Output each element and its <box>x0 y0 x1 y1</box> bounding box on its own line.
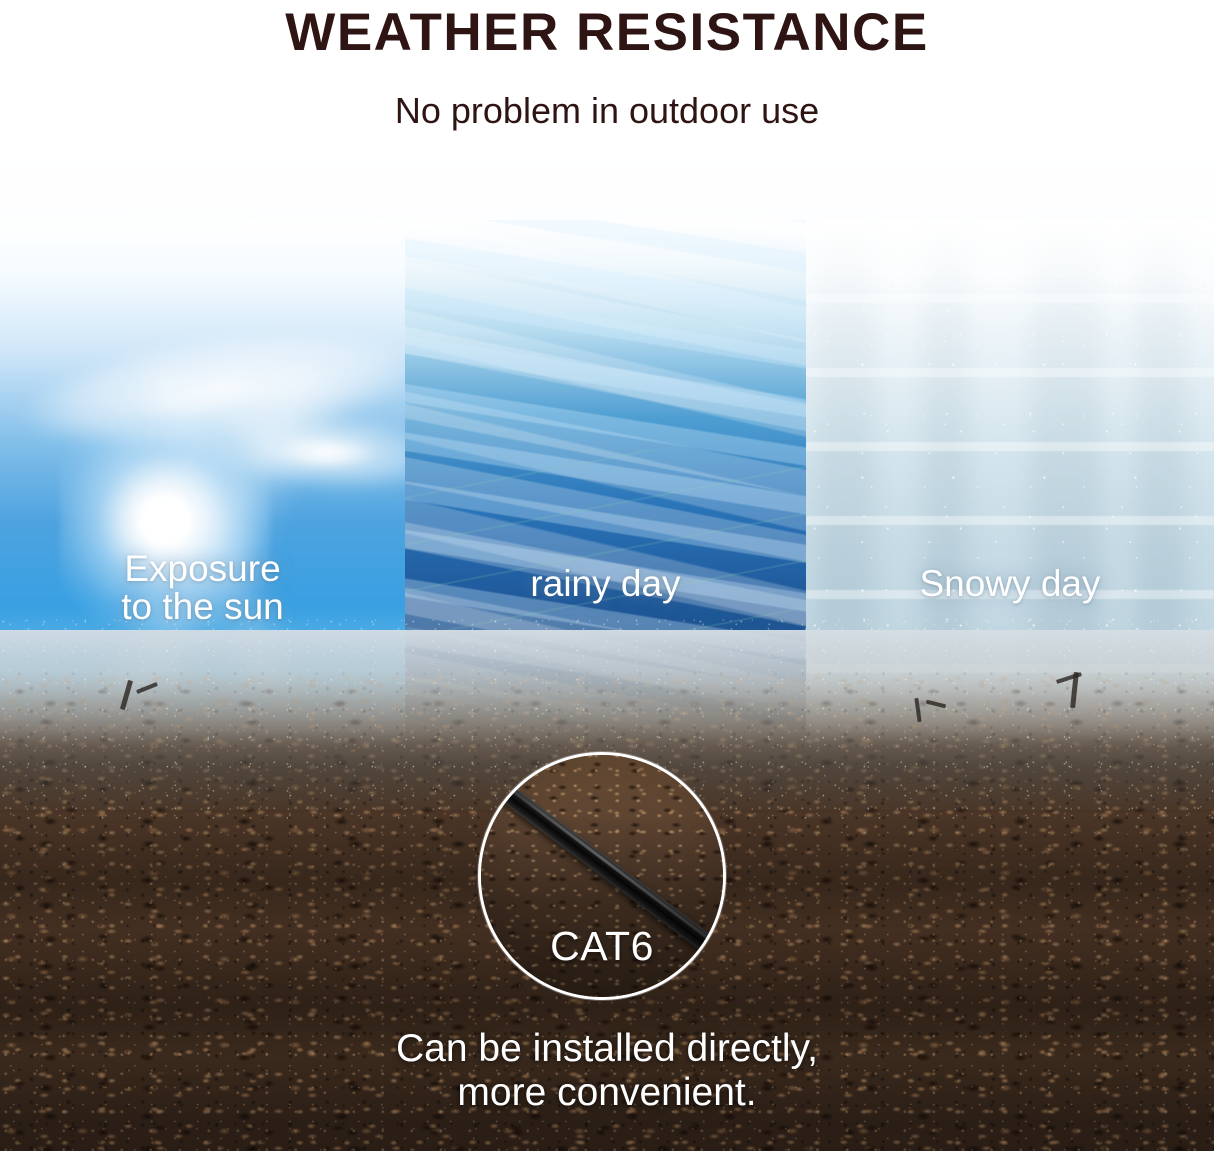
page-title: WEATHER RESISTANCE <box>0 0 1214 59</box>
scene: Exposure to the sun rainy day <box>0 140 1214 1151</box>
cloud-icon <box>253 418 403 488</box>
header-block: WEATHER RESISTANCE No problem in outdoor… <box>0 0 1214 160</box>
weather-panel-label-rain: rainy day <box>405 565 806 603</box>
weather-panel-label-sun: Exposure to the sun <box>0 550 405 627</box>
page-subtitle: No problem in outdoor use <box>0 93 1214 129</box>
weather-panel-label-snow: Snowy day <box>806 565 1214 603</box>
cat6-label: CAT6 <box>481 923 723 970</box>
bottom-caption: Can be installed directly, more convenie… <box>0 1027 1214 1116</box>
cat6-callout-circle: CAT6 <box>478 752 726 1000</box>
product-feature-image: WEATHER RESISTANCE No problem in outdoor… <box>0 0 1214 1151</box>
